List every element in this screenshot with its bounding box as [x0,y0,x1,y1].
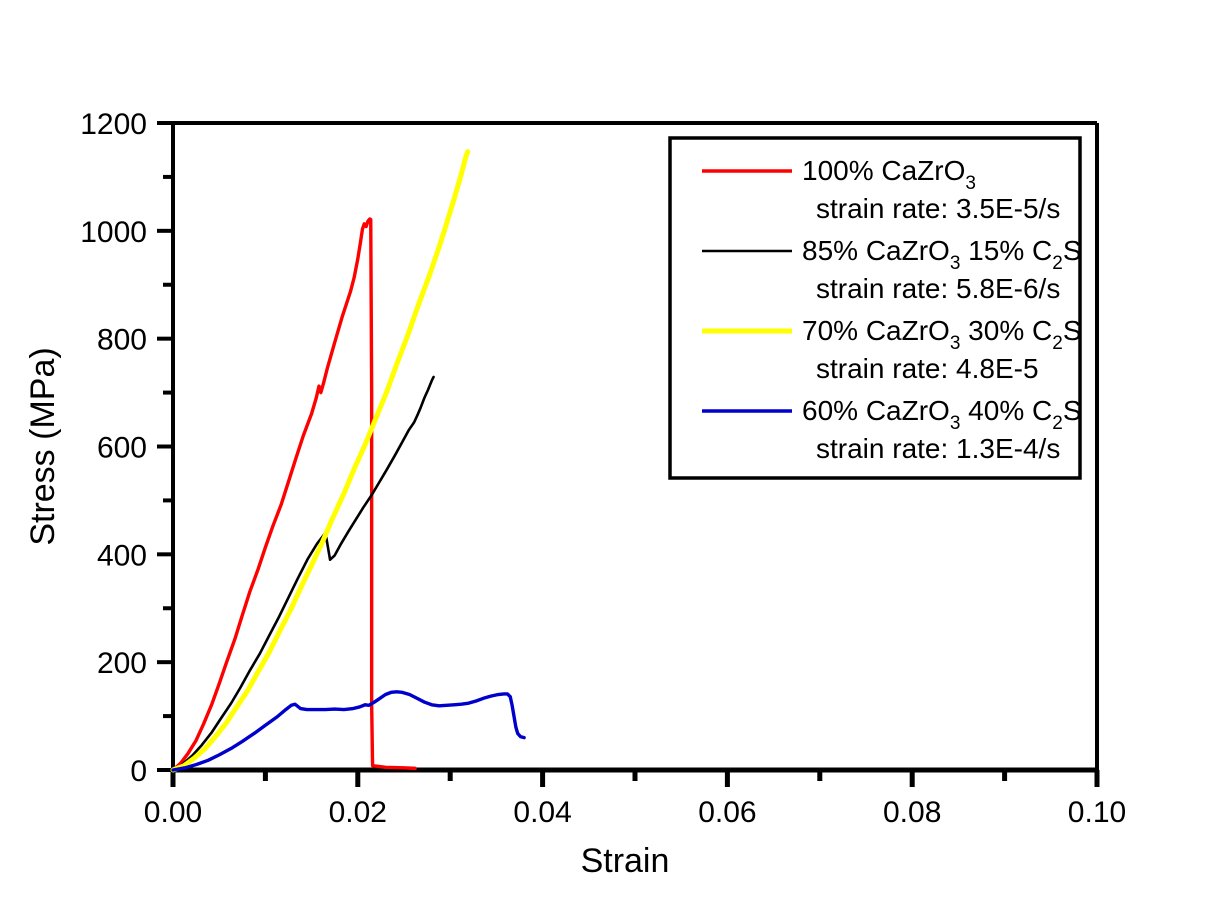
legend-label-subscript2: 2 [1052,413,1063,434]
legend-label-main: 70% CaZrO [802,315,950,346]
legend-strain-rate-2: strain rate: 4.8E-5 [816,353,1039,384]
stress-strain-chart-figure: 0200400600800100012000.000.020.040.060.0… [0,0,1206,909]
x-tick-label: 0.04 [513,796,571,829]
legend-label-subscript2: 2 [1052,253,1063,274]
y-tick-label: 1000 [80,216,147,249]
x-tick-label: 0.06 [698,796,756,829]
legend-label-subscript2: 2 [1052,333,1063,354]
legend-label-main: 60% CaZrO [802,395,950,426]
legend-label-main: 85% CaZrO [802,235,950,266]
legend-strain-rate-0: strain rate: 3.5E-5/s [816,193,1060,224]
x-tick-label: 0.10 [1068,796,1126,829]
legend-label-subscript: 3 [950,333,961,354]
legend-label-tail2: S [1063,395,1082,426]
chart-legend: 100% CaZrO3strain rate: 3.5E-5/s85% CaZr… [670,138,1082,478]
legend-label-tail2: S [1063,315,1082,346]
legend-label-main: 100% CaZrO [802,155,965,186]
legend-label-subscript: 3 [950,253,961,274]
legend-strain-rate-1: strain rate: 5.8E-6/s [816,273,1060,304]
legend-box [670,138,1080,478]
chart-canvas: 0200400600800100012000.000.020.040.060.0… [0,0,1206,909]
y-tick-label: 200 [97,647,147,680]
y-tick-label: 600 [97,432,147,465]
y-tick-label: 800 [97,324,147,357]
y-tick-label: 400 [97,539,147,572]
x-tick-label: 0.02 [329,796,387,829]
y-tick-label: 0 [130,755,147,788]
legend-strain-rate-3: strain rate: 1.3E-4/s [816,433,1060,464]
x-tick-label: 0.08 [883,796,941,829]
legend-label-tail2: S [1063,235,1082,266]
y-tick-label: 1200 [80,108,147,141]
y-axis-title: Stress (MPa) [24,347,62,545]
legend-label-tail: 30% C [960,315,1052,346]
legend-label-tail: 40% C [960,395,1052,426]
legend-label-subscript: 3 [965,173,976,194]
x-tick-label: 0.00 [144,796,202,829]
legend-label-tail: 15% C [960,235,1052,266]
legend-label-subscript: 3 [950,413,961,434]
x-axis-title: Strain [581,842,670,880]
